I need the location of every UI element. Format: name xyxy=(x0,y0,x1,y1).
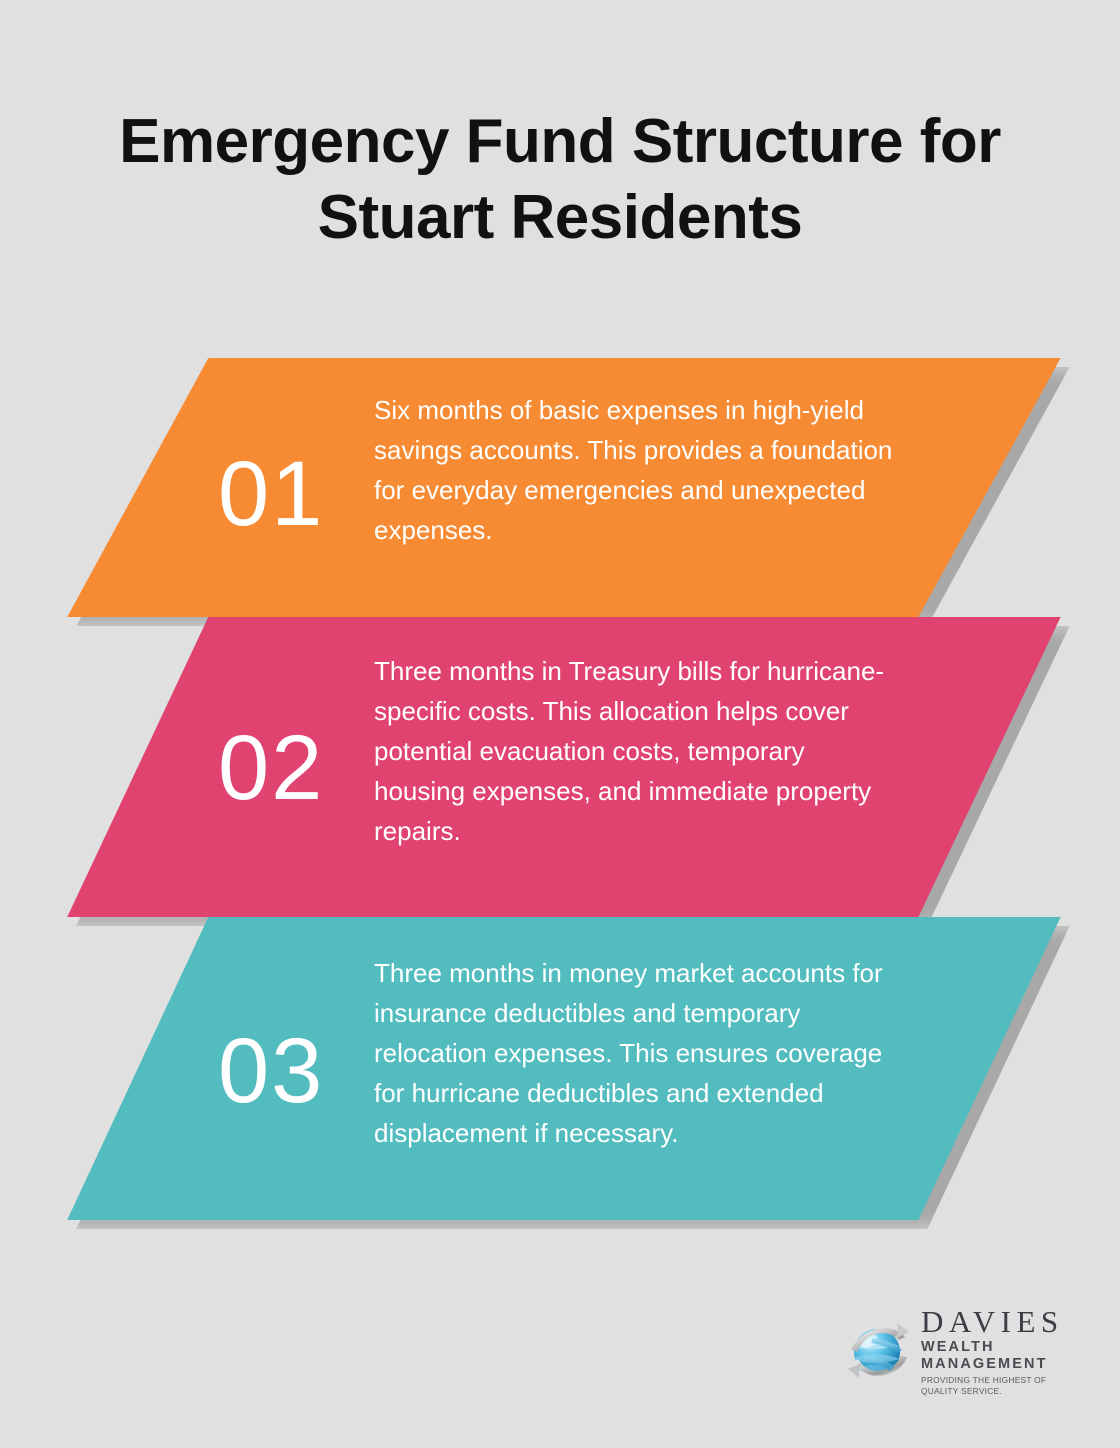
logo-wordmark: DAVIES WEALTH MANAGEMENT PROVIDING THE H… xyxy=(921,1306,1075,1397)
band-content: 03 Three months in money market accounts… xyxy=(0,917,1120,1220)
band-number: 02 xyxy=(218,722,324,814)
band-content: 02 Three months in Treasury bills for hu… xyxy=(0,617,1120,917)
band-number: 01 xyxy=(218,448,324,540)
page-title-line-2: Stuart Residents xyxy=(60,180,1060,256)
band-description: Three months in money market accounts fo… xyxy=(374,953,894,1153)
logo-subtitle: WEALTH MANAGEMENT xyxy=(921,1339,1075,1373)
globe-icon xyxy=(845,1316,915,1386)
brand-logo: DAVIES WEALTH MANAGEMENT PROVIDING THE H… xyxy=(845,1310,1075,1392)
band-list: 01 Six months of basic expenses in high-… xyxy=(0,358,1120,1220)
band-description: Six months of basic expenses in high-yie… xyxy=(374,390,894,550)
page-title: Emergency Fund Structure for Stuart Resi… xyxy=(60,104,1060,256)
band-description: Three months in Treasury bills for hurri… xyxy=(374,651,894,851)
logo-tagline: PROVIDING THE HIGHEST OF QUALITY SERVICE… xyxy=(921,1375,1075,1397)
infographic-page: Emergency Fund Structure for Stuart Resi… xyxy=(0,0,1120,1448)
logo-name: DAVIES xyxy=(921,1306,1075,1337)
band-item: 02 Three months in Treasury bills for hu… xyxy=(0,617,1120,917)
page-title-line-1: Emergency Fund Structure for xyxy=(60,104,1060,180)
band-item: 03 Three months in money market accounts… xyxy=(0,917,1120,1220)
band-item: 01 Six months of basic expenses in high-… xyxy=(0,358,1120,617)
band-number: 03 xyxy=(218,1025,324,1117)
band-content: 01 Six months of basic expenses in high-… xyxy=(0,358,1120,617)
